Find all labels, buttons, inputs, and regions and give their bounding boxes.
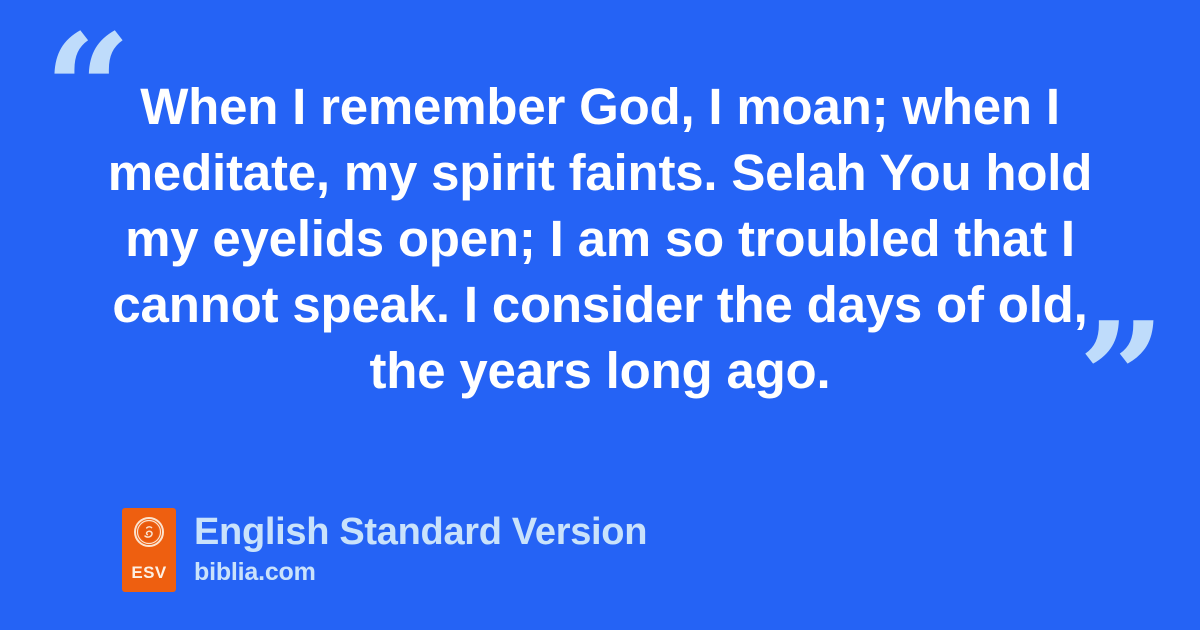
brand-text-block: English Standard Version biblia.com [194, 508, 647, 587]
source-url-label: biblia.com [194, 557, 647, 587]
verse-image-card: “ When I remember God, I moan; when I me… [0, 0, 1200, 630]
esv-seal-emblem-icon [134, 517, 164, 552]
quote-close-icon: ” [1078, 302, 1165, 454]
brand-footer: ESV English Standard Version biblia.com [122, 508, 647, 592]
bible-version-title: English Standard Version [194, 510, 647, 554]
esv-abbreviation-label: ESV [131, 563, 166, 583]
esv-logo: ESV [122, 508, 176, 592]
verse-text: When I remember God, I moan; when I medi… [100, 74, 1100, 404]
